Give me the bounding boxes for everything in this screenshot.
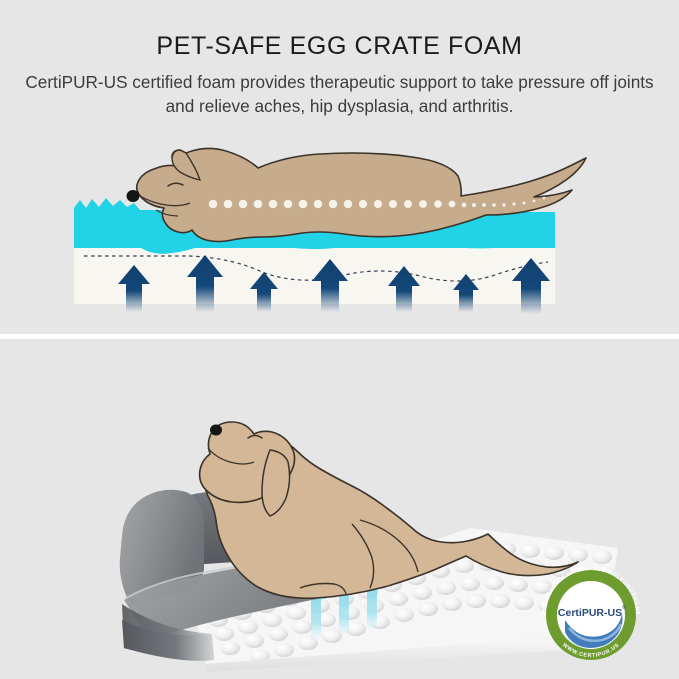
page-title: PET-SAFE EGG CRATE FOAM	[0, 32, 679, 61]
panel-description: CertiPUR-US certified foam provides ther…	[14, 70, 665, 118]
product-infographic: PET-SAFE EGG CRATE FOAM CertiPUR-US cert…	[0, 0, 679, 679]
panel-increased-airflow: INCREASED AIRFLOW	[0, 339, 679, 679]
panel-pet-safe-egg-crate-foam: PET-SAFE EGG CRATE FOAM CertiPUR-US cert…	[0, 0, 679, 336]
